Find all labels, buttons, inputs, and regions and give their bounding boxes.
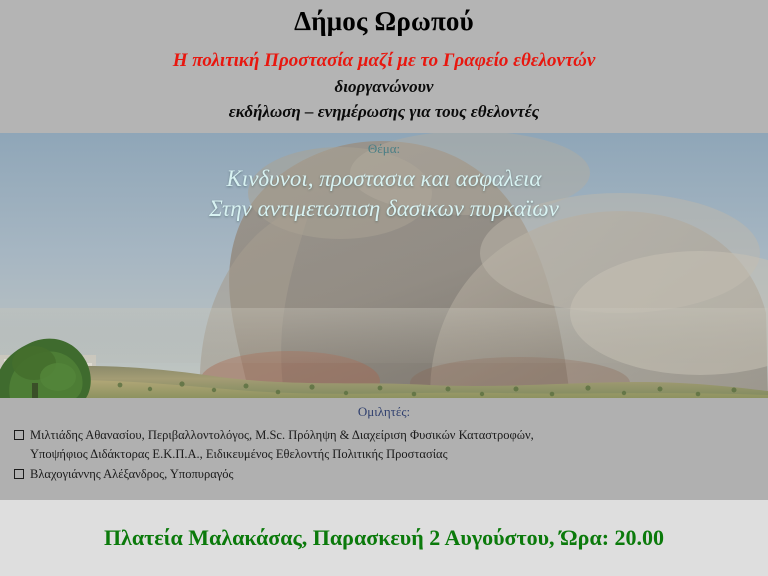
speakers-list: Μιλτιάδης Αθανασίου, Περιβαλλοντολόγος, …: [0, 420, 768, 484]
event-type-line: εκδήλωση – ενημέρωσης για τους εθελοντές: [0, 97, 768, 122]
checkbox-bullet-icon: [14, 430, 24, 440]
event-poster: Δήμος Ωρωπού Η πολιτική Προστασία μαζί μ…: [0, 0, 768, 576]
wildfire-photo: Θέμα: Κινδυνοι, προστασια και ασφαλεια Σ…: [0, 133, 768, 398]
checkbox-bullet-icon: [14, 469, 24, 479]
wildfire-illustration: [0, 133, 768, 398]
organization-title: Δήμος Ωρωπού: [0, 0, 768, 37]
speaker-detail-line: Υποψήφιος Διδάκτορας Ε.Κ.Π.Α., Ειδικευμέ…: [28, 445, 768, 464]
organizers-line: Η πολιτική Προστασία μαζί με το Γραφείο …: [0, 37, 768, 72]
organizers-verb: διοργανώνουν: [0, 72, 768, 97]
list-item: Βλαχογιάννης Αλέξανδρος, Υποπυραγός: [14, 465, 768, 484]
event-location-footer: Πλατεία Μαλακάσας, Παρασκευή 2 Αυγούστου…: [0, 500, 768, 576]
location-date-time: Πλατεία Μαλακάσας, Παρασκευή 2 Αυγούστου…: [104, 525, 664, 551]
speaker-name-line: Βλαχογιάννης Αλέξανδρος, Υποπυραγός: [28, 465, 768, 484]
speakers-heading: Ομιλητές:: [0, 398, 768, 420]
list-item: Μιλτιάδης Αθανασίου, Περιβαλλοντολόγος, …: [14, 426, 768, 465]
speaker-name-line: Μιλτιάδης Αθανασίου, Περιβαλλοντολόγος, …: [28, 426, 768, 445]
speakers-section: Ομιλητές: Μιλτιάδης Αθανασίου, Περιβαλλο…: [0, 398, 768, 500]
poster-header: Δήμος Ωρωπού Η πολιτική Προστασία μαζί μ…: [0, 0, 768, 133]
